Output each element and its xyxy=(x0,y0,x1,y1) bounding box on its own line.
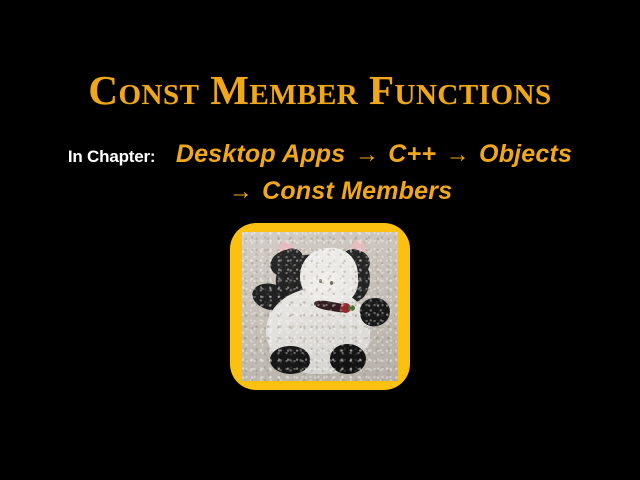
breadcrumb-crumbs-1: Desktop Apps → C++ → Objects xyxy=(176,139,572,173)
title-block: Const Member Functions xyxy=(0,68,640,112)
cow-collar-leaf xyxy=(348,305,355,311)
breadcrumb-item-cpp: C++ xyxy=(388,140,436,168)
arrow-right-icon: → xyxy=(441,141,475,168)
breadcrumb-item-const-members: Const Members xyxy=(262,177,452,205)
page-title: Const Member Functions xyxy=(88,68,551,112)
breadcrumb-item-objects: Objects xyxy=(479,140,572,168)
photo-frame xyxy=(230,223,410,390)
in-chapter-label: In Chapter: xyxy=(68,147,156,166)
cow-nostril-right xyxy=(330,281,333,285)
breadcrumb-line-2: → Const Members xyxy=(0,176,640,210)
cow-plush-photo xyxy=(242,232,398,381)
breadcrumb-item-desktop-apps: Desktop Apps xyxy=(176,140,346,168)
arrow-right-icon: → xyxy=(350,141,384,168)
cow-nostril-left xyxy=(319,279,322,283)
breadcrumb: In Chapter: Desktop Apps → C++ → Objects… xyxy=(0,139,640,210)
arrow-right-icon: → xyxy=(224,178,258,205)
breadcrumb-line-1: In Chapter: Desktop Apps → C++ → Objects xyxy=(0,139,640,173)
title-slide: Const Member Functions In Chapter: Deskt… xyxy=(0,0,640,480)
